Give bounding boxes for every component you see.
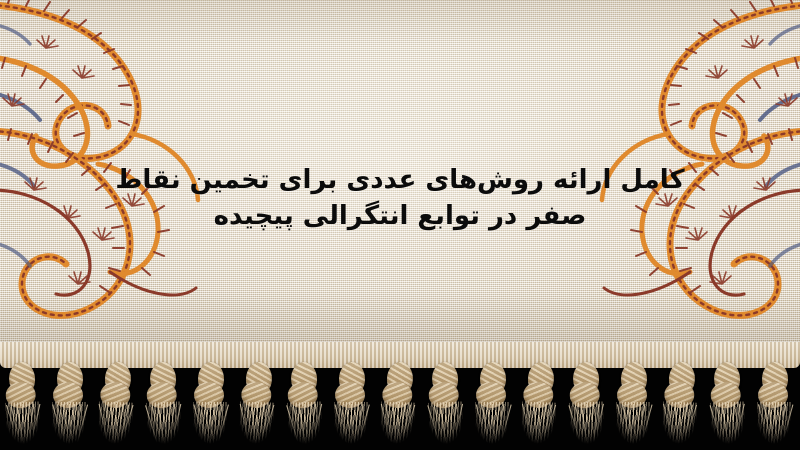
- tassel: [705, 359, 754, 447]
- tassel-strand: [492, 404, 493, 435]
- slide-title-line-2: صفر در توابع انتگرالی پیچیده: [0, 198, 800, 234]
- tassel: [612, 360, 658, 446]
- tassel: [48, 360, 94, 446]
- tassel: [140, 359, 189, 447]
- tassel: [658, 359, 707, 447]
- fringe-trim: [0, 360, 800, 450]
- slide-title-line-1: کامل ارائه روش‌های عددی برای تخمین نقاط: [0, 162, 800, 198]
- slide-canvas: کامل ارائه روش‌های عددی برای تخمین نقاط …: [0, 0, 800, 450]
- tassel-strand: [210, 404, 211, 437]
- tassel: [189, 360, 235, 446]
- tassel: [471, 360, 517, 446]
- tassel: [564, 359, 613, 447]
- tassel: [422, 359, 471, 447]
- tassel: [281, 359, 330, 447]
- tassel: [0, 359, 48, 447]
- tassel: [375, 359, 424, 447]
- tassel: [93, 359, 142, 447]
- tassel-strand: [775, 404, 776, 433]
- tassel: [234, 359, 283, 447]
- tassel: [753, 360, 799, 446]
- tassel-row: [0, 360, 800, 450]
- tassel: [517, 359, 566, 447]
- tassel: [330, 360, 376, 446]
- slide-title: کامل ارائه روش‌های عددی برای تخمین نقاط …: [0, 162, 800, 234]
- tassel-strand: [633, 404, 634, 434]
- tassel-strand: [69, 404, 70, 438]
- tassel-strand: [351, 404, 352, 436]
